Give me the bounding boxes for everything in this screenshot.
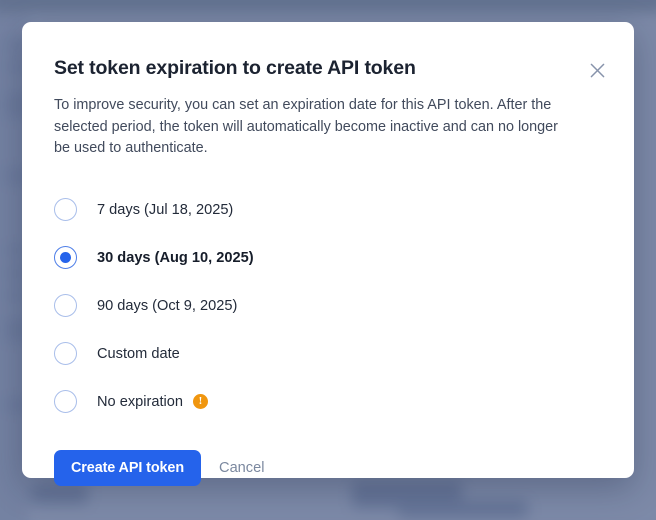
dialog-actions: Create API token Cancel — [54, 450, 602, 486]
cancel-button[interactable]: Cancel — [219, 460, 264, 476]
radio-indicator[interactable] — [54, 294, 77, 317]
dialog-description: To improve security, you can set an expi… — [54, 95, 566, 160]
option-label: Custom date — [97, 344, 180, 364]
set-token-expiration-dialog: Set token expiration to create API token… — [22, 22, 634, 478]
create-api-token-button[interactable]: Create API token — [54, 450, 201, 486]
option-label: 30 days (Aug 10, 2025) — [97, 248, 254, 268]
option-label: No expiration — [97, 392, 183, 412]
option-30-days[interactable]: 30 days (Aug 10, 2025) — [54, 234, 602, 282]
radio-indicator[interactable] — [54, 342, 77, 365]
option-90-days[interactable]: 90 days (Oct 9, 2025) — [54, 282, 602, 330]
screen: Set token expiration to create API token… — [0, 0, 656, 520]
radio-indicator[interactable] — [54, 198, 77, 221]
option-label: 90 days (Oct 9, 2025) — [97, 296, 237, 316]
dialog-title: Set token expiration to create API token — [54, 54, 602, 81]
radio-indicator[interactable] — [54, 390, 77, 413]
option-7-days[interactable]: 7 days (Jul 18, 2025) — [54, 186, 602, 234]
warning-icon: ! — [193, 394, 208, 409]
expiration-options-group: 7 days (Jul 18, 2025) 30 days (Aug 10, 2… — [54, 186, 602, 426]
option-custom-date[interactable]: Custom date — [54, 330, 602, 378]
radio-indicator[interactable] — [54, 246, 77, 269]
option-label: 7 days (Jul 18, 2025) — [97, 200, 233, 220]
close-icon[interactable] — [582, 55, 612, 85]
option-no-expiration[interactable]: No expiration ! — [54, 378, 602, 426]
radio-dot — [60, 252, 71, 263]
